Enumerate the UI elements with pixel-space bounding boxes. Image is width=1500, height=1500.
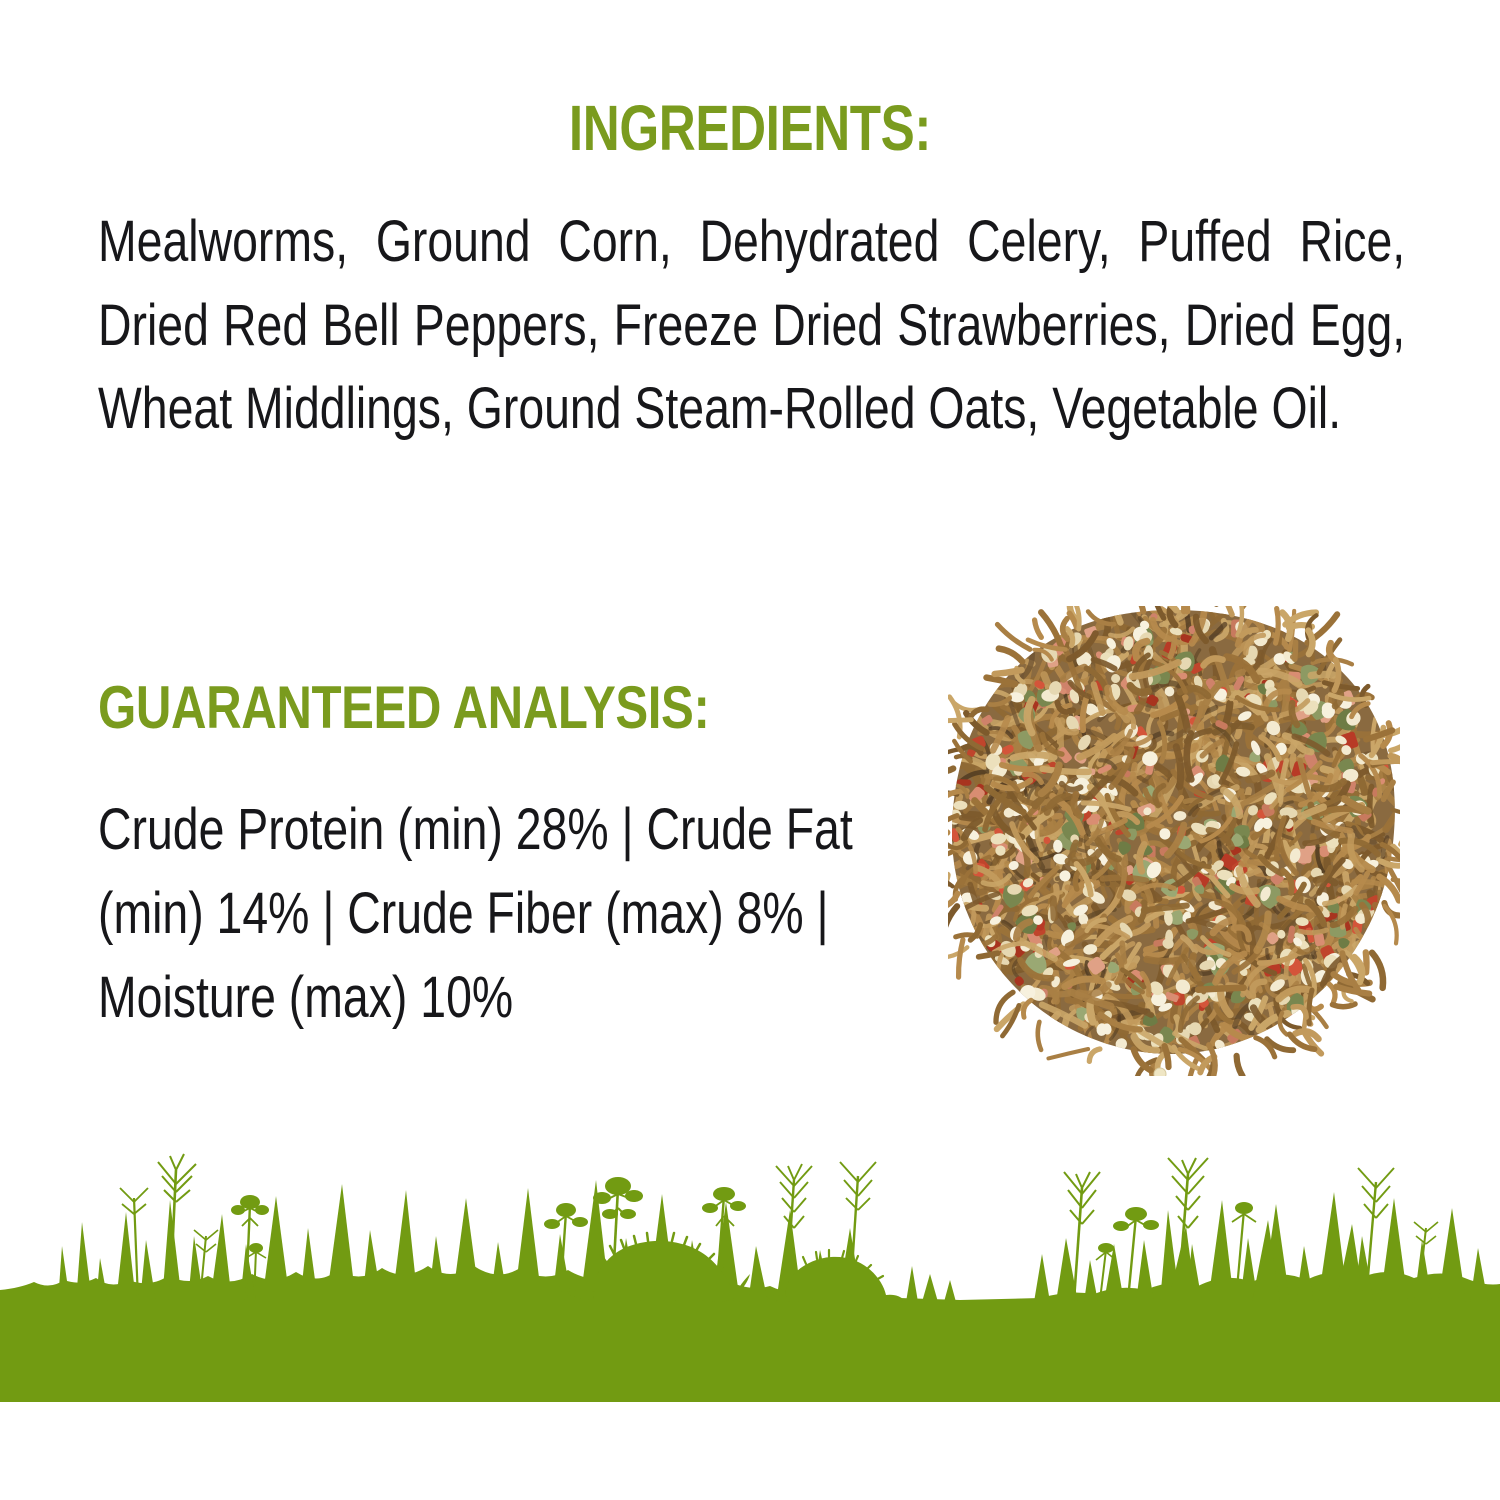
guaranteed-analysis-text: Crude Protein (min) 28% | Crude Fat (min… [98, 788, 920, 1040]
guaranteed-analysis-heading: GUARANTEED ANALYSIS: [98, 678, 709, 738]
grass-and-hedgehog-silhouette [0, 1140, 1500, 1402]
ingredients-text: Mealworms, Ground Corn, Dehydrated Celer… [98, 200, 1405, 451]
product-label-panel: INGREDIENTS: Mealworms, Ground Corn, Deh… [0, 0, 1500, 1500]
ingredients-heading: INGREDIENTS: [150, 96, 1350, 160]
mealworm-mix-pile-photo [948, 606, 1400, 1076]
